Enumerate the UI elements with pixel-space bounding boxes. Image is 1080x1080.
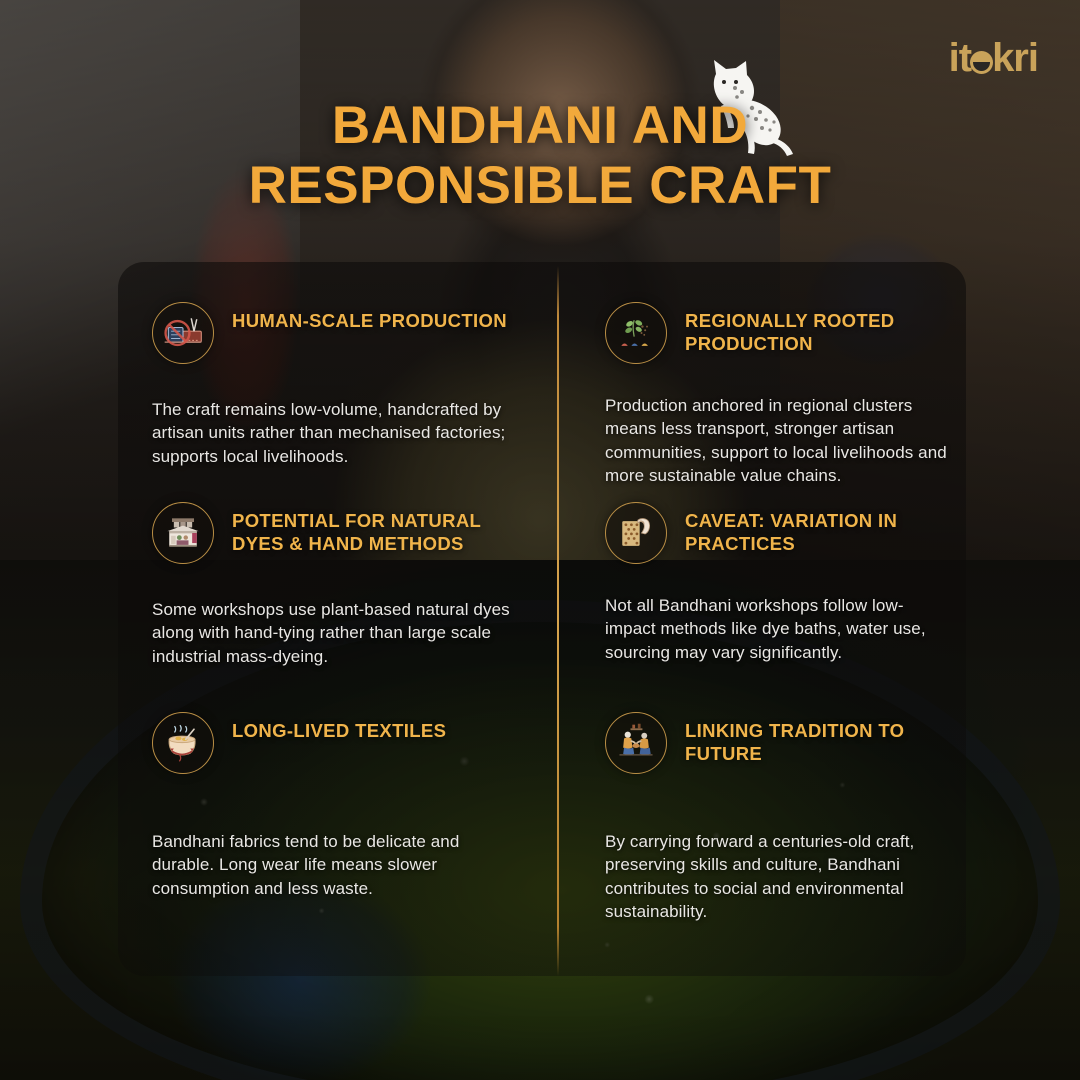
card-header: REGIONALLY ROOTED PRODUCTION xyxy=(605,302,948,364)
infographic-poster: itkri BANDHANI AND RESPONSIBLE CRAFT xyxy=(0,0,1080,1080)
card-body: Not all Bandhani workshops follow low-im… xyxy=(605,594,948,664)
card-body: Bandhani fabrics tend to be delicate and… xyxy=(152,830,521,900)
cards-grid: HUMAN-SCALE PRODUCTION The craft remains… xyxy=(118,262,966,976)
title-line-1: BANDHANI AND xyxy=(150,96,930,156)
card-header: POTENTIAL FOR NATURAL DYES & HAND METHOD… xyxy=(152,502,521,564)
card-regionally-rooted-production: REGIONALLY ROOTED PRODUCTION Production … xyxy=(557,262,966,462)
itokri-logo[interactable]: itkri xyxy=(949,38,1038,78)
seedling-natural-dye-pigments-icon xyxy=(605,302,667,364)
page-title: BANDHANI AND RESPONSIBLE CRAFT xyxy=(0,96,1080,217)
card-title: LINKING TRADITION TO FUTURE xyxy=(685,712,948,765)
card-title: HUMAN-SCALE PRODUCTION xyxy=(232,302,507,332)
card-header: LONG-LIVED TEXTILES xyxy=(152,712,521,774)
card-natural-dyes-hand-methods: POTENTIAL FOR NATURAL DYES & HAND METHOD… xyxy=(118,462,557,672)
logo-text-part2: kri xyxy=(992,36,1038,80)
logo-basket-icon xyxy=(970,51,993,74)
card-header: HUMAN-SCALE PRODUCTION xyxy=(152,302,521,364)
card-body: The craft remains low-volume, handcrafte… xyxy=(152,398,521,468)
card-linking-tradition-to-future: LINKING TRADITION TO FUTURE By carrying … xyxy=(557,672,966,976)
card-title: LONG-LIVED TEXTILES xyxy=(232,712,446,742)
craft-workshop-building-icon xyxy=(152,502,214,564)
logo-text-part1: it xyxy=(949,36,971,80)
title-line-2: RESPONSIBLE CRAFT xyxy=(150,156,930,216)
card-title: POTENTIAL FOR NATURAL DYES & HAND METHOD… xyxy=(232,502,521,555)
card-header: CAVEAT: VARIATION IN PRACTICES xyxy=(605,502,948,564)
card-caveat-variation-in-practices: CAVEAT: VARIATION IN PRACTICES Not all B… xyxy=(557,462,966,672)
card-long-lived-textiles: LONG-LIVED TEXTILES Bandhani fabrics ten… xyxy=(118,672,557,976)
card-header: LINKING TRADITION TO FUTURE xyxy=(605,712,948,774)
no-factory-machine-icon xyxy=(152,302,214,364)
card-body: By carrying forward a centuries-old craf… xyxy=(605,830,948,924)
steaming-dye-pot-icon xyxy=(152,712,214,774)
two-artisans-working-icon xyxy=(605,712,667,774)
card-title: CAVEAT: VARIATION IN PRACTICES xyxy=(685,502,948,555)
hand-holding-patterned-fabric-icon xyxy=(605,502,667,564)
card-human-scale-production: HUMAN-SCALE PRODUCTION The craft remains… xyxy=(118,262,557,462)
card-body: Some workshops use plant-based natural d… xyxy=(152,598,521,668)
card-title: REGIONALLY ROOTED PRODUCTION xyxy=(685,302,948,355)
